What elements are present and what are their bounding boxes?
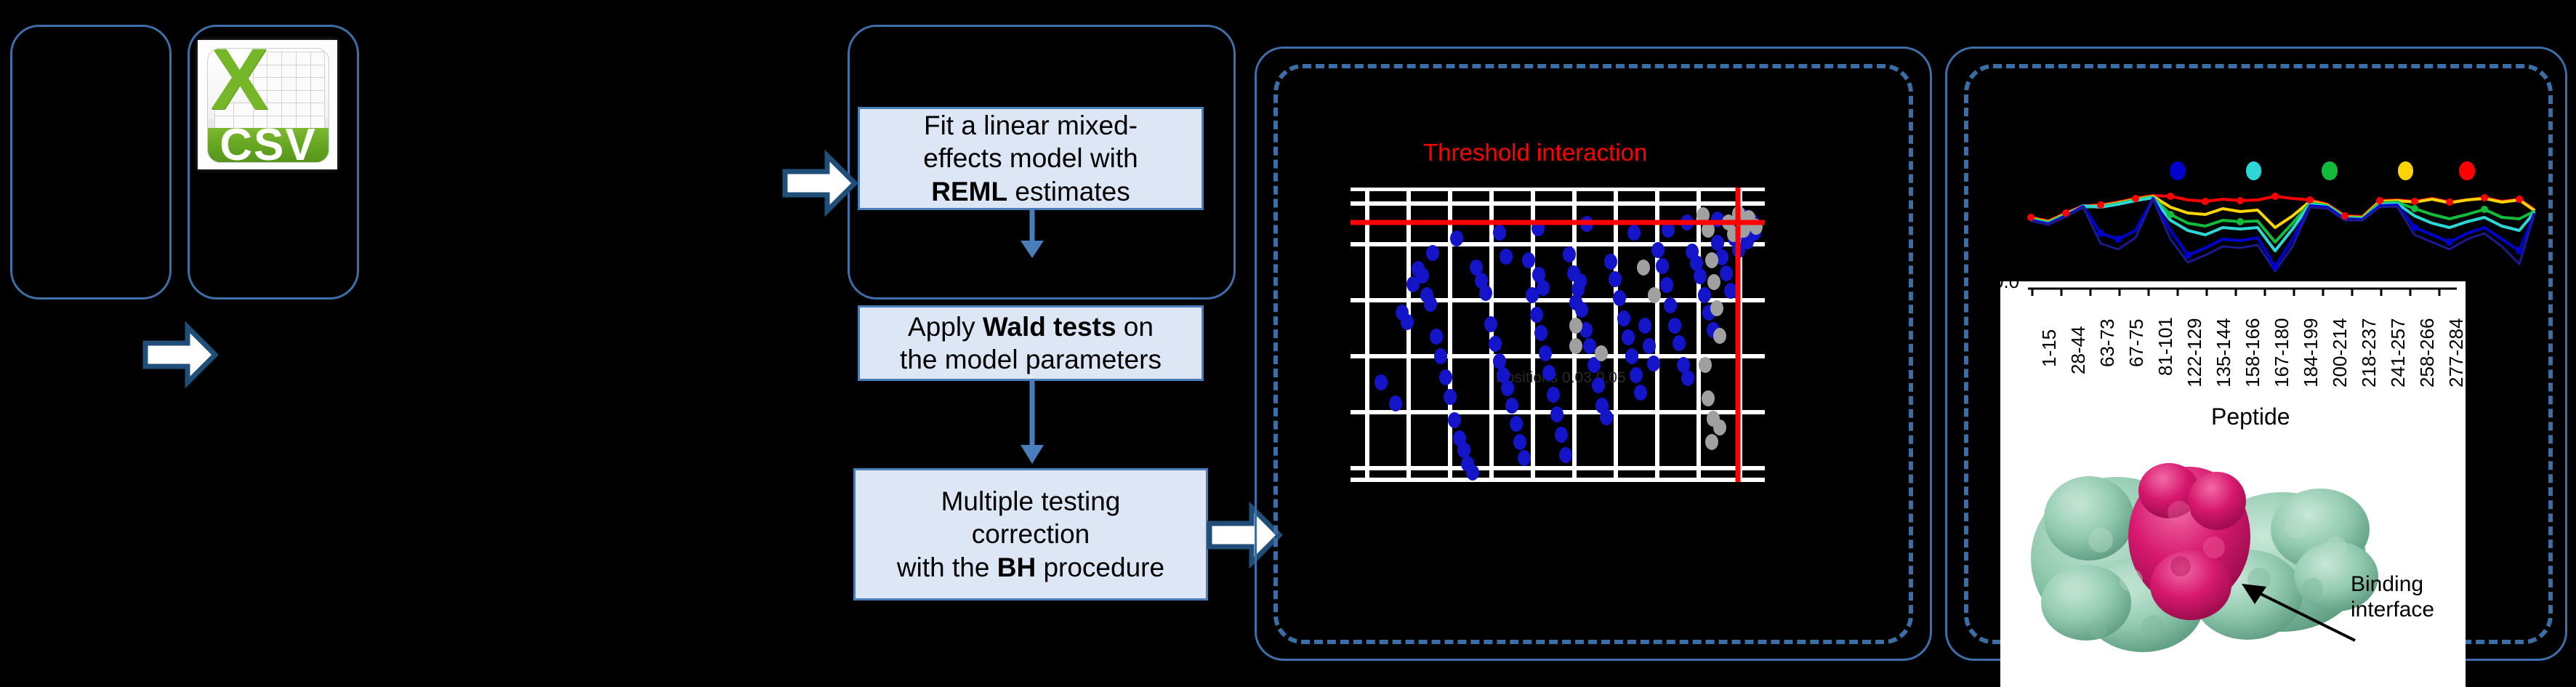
peptide-tick-10: 200-214 [2329,318,2351,387]
legend-dot-5 [2459,161,2475,180]
multiple-testing-box[interactable]: Multiple testingcorrectionwith the BH pr… [853,468,1208,600]
peptide-tick-1: 28-44 [2067,326,2090,375]
svg-text:Positions 0.03 0.05: Positions 0.03 0.05 [1496,369,1626,386]
peptide-tick-4: 81-101 [2154,317,2177,376]
arrow-wald-to-bh [1016,381,1048,465]
peptide-tick-2: 63-73 [2096,319,2119,368]
flow-arrow-2 [782,150,858,217]
peptide-line-chart [2021,164,2544,280]
fit-model-text: Fit a linear mixed-effects model withREM… [923,109,1138,207]
peptide-tick-12: 241-257 [2387,318,2410,387]
protein-structure-image [2008,431,2415,678]
binding-interface-line-2: interface [2351,598,2434,622]
flow-arrow-1 [142,321,218,388]
legend-dot-2 [2246,161,2262,180]
scatter-plot-area: Positions 0.03 0.05 [1351,188,1765,482]
peptide-axis-and-structure-card: 1-15 28-44 63-73 67-75 81-101 122-129 13… [2000,281,2466,687]
peptide-y-axis-value: 0.0 [1993,270,2019,293]
peptide-tick-14: 277-284 [2445,318,2466,387]
binding-interface-annotation: Binding interface [2351,572,2434,622]
peptide-tick-3: 67-75 [2125,319,2148,368]
fit-model-box[interactable]: Fit a linear mixed-effects model withREM… [858,107,1204,210]
peptide-tick-7: 158-166 [2242,318,2264,387]
peptide-chart-legend [2170,161,2475,180]
peptide-tick-6: 135-144 [2213,318,2235,387]
threshold-interaction-label: Threshold interaction [1423,139,1647,166]
peptide-tick-8: 167-180 [2271,318,2293,387]
excel-x-letter: X [213,51,266,108]
legend-dot-1 [2170,161,2186,180]
binding-interface-line-1: Binding [2351,572,2423,596]
peptide-tick-11: 218-237 [2358,318,2380,387]
wald-tests-box[interactable]: Apply Wald tests onthe model parameters [858,305,1204,381]
multiple-testing-text: Multiple testingcorrectionwith the BH pr… [897,485,1164,583]
legend-dot-3 [2322,161,2338,180]
arrow-fit-to-wald [1016,210,1048,260]
peptide-tick-5: 122-129 [2183,318,2206,387]
csv-label: CSV [220,119,316,163]
peptide-tick-13: 258-266 [2416,318,2439,387]
wald-tests-text: Apply Wald tests onthe model parameters [900,310,1162,376]
csv-label-band: CSV [208,128,328,162]
peptide-tick-0: 1-15 [2038,329,2061,367]
legend-dot-4 [2398,161,2414,180]
csv-file-icon: X CSV [198,40,337,169]
threshold-scatter-chart: Threshold interaction Threshold state [1301,98,1897,607]
panel-data-source [10,25,172,300]
peptide-axis-label: Peptide [2211,403,2290,430]
peptide-tick-9: 184-199 [2300,318,2322,387]
